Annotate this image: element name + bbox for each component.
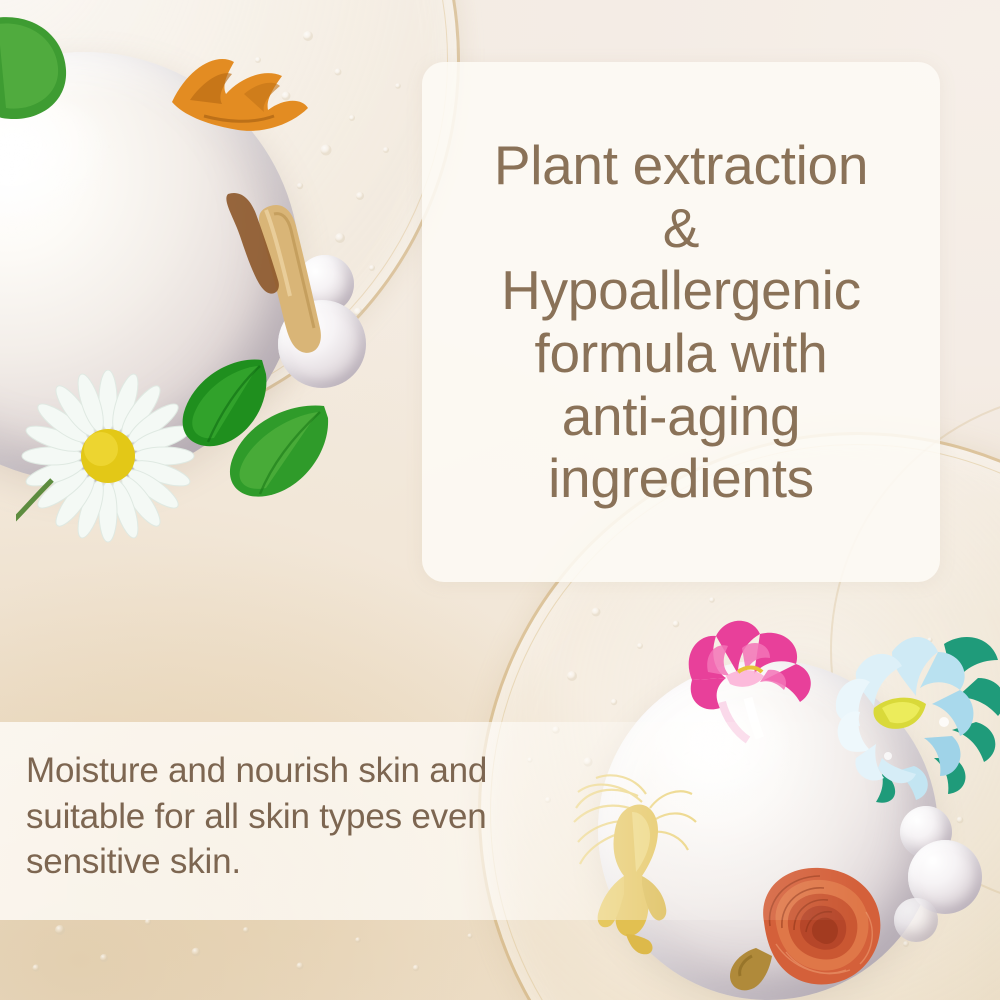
subtext-line-1: Moisture and nourish skin and [26, 748, 626, 794]
subtext-line-3: sensitive skin. [26, 839, 626, 885]
headline-card: Plant extraction & Hypoallergenic formul… [422, 62, 940, 582]
banner-stage: Plant extraction & Hypoallergenic formul… [0, 0, 1000, 1000]
headline-line-2: & [494, 197, 868, 260]
dried-root-orange-icon [160, 42, 310, 142]
chamomile-flower-icon [16, 370, 196, 550]
reishi-stem [730, 948, 772, 990]
headline-line-5: anti-aging [494, 385, 868, 448]
headline-line-3: Hypoallergenic [494, 259, 868, 322]
headline-line-6: ingredients [494, 447, 868, 510]
subtext-line-2: suitable for all skin types even [26, 794, 626, 840]
brown-root-icon [214, 186, 294, 296]
green-leaf-icon [0, 8, 88, 128]
mint-leaf-icon-2 [218, 398, 338, 508]
subtext: Moisture and nourish skin and suitable f… [26, 748, 626, 885]
headline-text: Plant extraction & Hypoallergenic formul… [486, 134, 876, 510]
headline-line-4: formula with [494, 322, 868, 385]
headline-line-1: Plant extraction [494, 134, 868, 197]
